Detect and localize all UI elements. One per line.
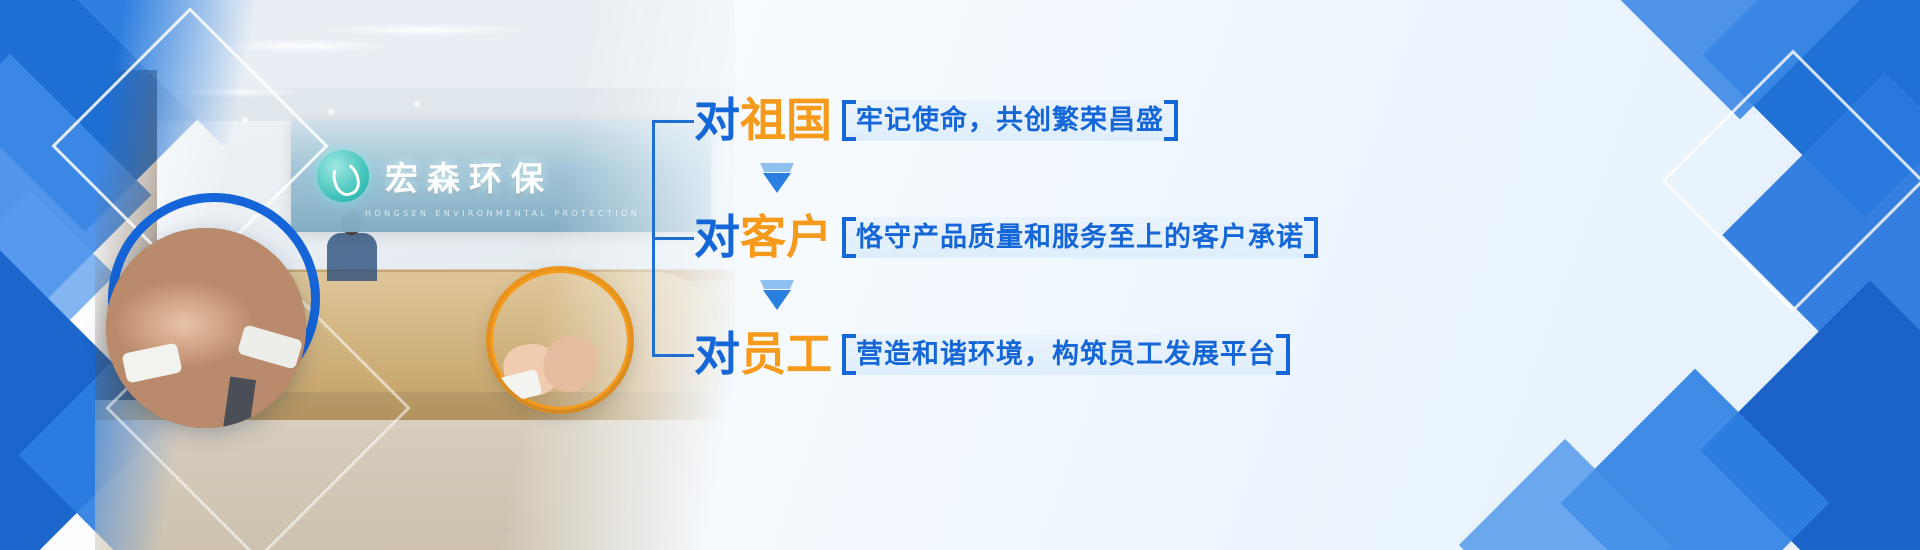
decor-outline-diamond-right [1661, 49, 1920, 312]
values-content: 对祖国 牢记使命，共创繁荣昌盛 对客户 恪守产品质量和服务至上的客户承诺 对员工… [650, 0, 1550, 550]
decor-diamond-right-4 [1700, 280, 1920, 550]
decor-diamond-right-2 [1606, 0, 1875, 119]
decor-diamond-right-3 [1722, 72, 1920, 397]
handshake-photo-large [106, 228, 306, 428]
corporate-values-banner: 宏森环保 HONGSEN ENVIRONMENTAL PROTECTION 对祖… [0, 0, 1920, 550]
down-arrow-icon-2 [760, 280, 794, 310]
value-statement-1: 牢记使命，共创繁荣昌盛 [842, 100, 1178, 141]
photo-staff-body [327, 233, 377, 281]
company-name-subtitle: HONGSEN ENVIRONMENTAL PROTECTION [365, 209, 640, 218]
value-statement-2: 恪守产品质量和服务至上的客户承诺 [842, 217, 1318, 258]
value-row-2: 对客户 恪守产品质量和服务至上的客户承诺 [694, 208, 1318, 266]
value-prefix-3: 对 [694, 327, 740, 381]
company-name: 宏森环保 [385, 152, 553, 200]
value-row-3: 对员工 营造和谐环境，构筑员工发展平台 [694, 325, 1290, 383]
decor-diamond-right-5 [1561, 369, 1830, 550]
tree-branch-3 [652, 354, 694, 357]
value-lead-3: 对员工 [694, 331, 832, 377]
down-arrow-icon-1 [760, 163, 794, 193]
value-lead-1: 对祖国 [694, 97, 832, 143]
value-statement-3: 营造和谐环境，构筑员工发展平台 [842, 334, 1290, 375]
value-prefix-2: 对 [694, 210, 740, 264]
decor-diamond-right-1 [1702, 0, 1920, 218]
value-row-1: 对祖国 牢记使命，共创繁荣昌盛 [694, 91, 1178, 149]
arrow-top-wedge [760, 280, 794, 289]
value-prefix-1: 对 [694, 93, 740, 147]
applause-photo-small [490, 270, 630, 410]
value-target-1: 祖国 [740, 93, 832, 147]
arrow-top-wedge [760, 163, 794, 172]
arrow-bottom-triangle [763, 173, 791, 193]
photo-floor [95, 420, 735, 550]
arrow-bottom-triangle [763, 290, 791, 310]
tree-branch-1 [652, 120, 694, 123]
company-signage: 宏森环保 HONGSEN ENVIRONMENTAL PROTECTION [291, 120, 711, 232]
value-target-2: 客户 [740, 210, 832, 264]
value-lead-2: 对客户 [694, 214, 832, 260]
company-logo-icon [317, 150, 369, 202]
tree-branch-2 [652, 237, 694, 240]
handshake-image [106, 228, 306, 428]
value-target-3: 员工 [740, 327, 832, 381]
